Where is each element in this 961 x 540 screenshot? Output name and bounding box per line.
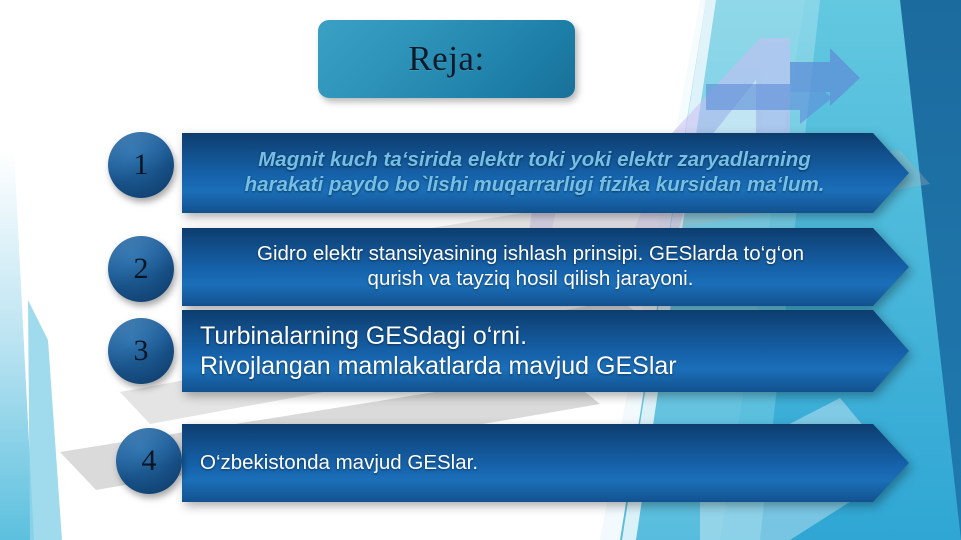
- agenda-text-2: Gidro elektr stansiyasining ishlash prin…: [182, 242, 909, 291]
- agenda-arrow-1[interactable]: Magnit kuch ta‘sirida elektr toki yoki e…: [182, 133, 909, 213]
- agenda-arrow-4[interactable]: O‘zbekistonda mavjud GESlar.: [182, 424, 909, 502]
- presentation-slide: Reja: Magnit kuch ta‘sirida elektr toki …: [0, 0, 961, 540]
- agenda-arrow-3[interactable]: Turbinalarning GESdagi o‘rni. Rivojlanga…: [182, 310, 909, 392]
- agenda-text-3-line-1: Turbinalarning GESdagi o‘rni.: [200, 321, 849, 351]
- agenda-text-1-line-1: Magnit kuch ta‘sirida elektr toki yoki e…: [208, 148, 861, 173]
- agenda-badge-1[interactable]: 1: [108, 132, 174, 198]
- agenda-text-4-line-1: O‘zbekistonda mavjud GESlar.: [200, 451, 849, 476]
- agenda-text-1: Magnit kuch ta‘sirida elektr toki yoki e…: [182, 148, 909, 197]
- background-stripe-left: [0, 150, 62, 540]
- agenda-badge-4[interactable]: 4: [116, 428, 182, 494]
- page-title: Reja:: [408, 39, 484, 79]
- slide-title-box: Reja:: [318, 20, 575, 98]
- agenda-badge-3[interactable]: 3: [108, 318, 174, 384]
- agenda-text-4: O‘zbekistonda mavjud GESlar.: [182, 451, 909, 476]
- agenda-number-3: 3: [134, 336, 149, 366]
- agenda-text-2-line-1: Gidro elektr stansiyasining ishlash prin…: [204, 242, 857, 267]
- agenda-number-1: 1: [134, 150, 149, 180]
- watermark-blue-arrow: [706, 48, 860, 124]
- agenda-arrow-2[interactable]: Gidro elektr stansiyasining ishlash prin…: [182, 228, 909, 306]
- agenda-text-2-line-2: qurish va tayziq hosil qilish jarayoni.: [204, 267, 857, 292]
- agenda-text-1-line-2: harakati paydo bo`lishi muqarrarligi fiz…: [208, 173, 861, 198]
- agenda-number-2: 2: [134, 254, 149, 284]
- agenda-text-3-line-2: Rivojlangan mamlakatlarda mavjud GESlar: [200, 351, 849, 381]
- agenda-badge-2[interactable]: 2: [108, 236, 174, 302]
- agenda-text-3: Turbinalarning GESdagi o‘rni. Rivojlanga…: [182, 321, 909, 381]
- agenda-number-4: 4: [142, 446, 157, 476]
